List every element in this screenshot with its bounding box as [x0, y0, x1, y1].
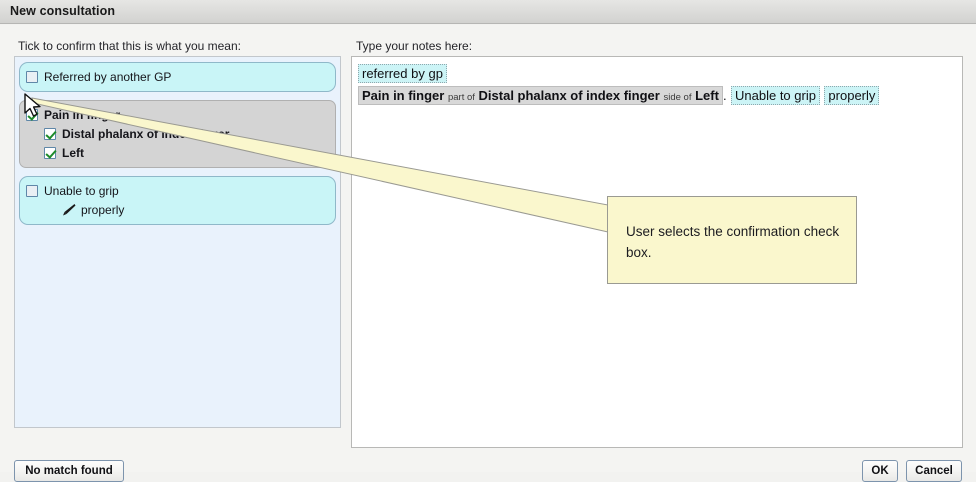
- list-item[interactable]: Unable to grip: [26, 181, 329, 200]
- list-item[interactable]: properly: [26, 200, 329, 219]
- list-item[interactable]: Referred by another GP: [26, 67, 329, 86]
- note-chip-properly[interactable]: properly: [824, 86, 879, 105]
- note-relation-part-of: part of: [448, 92, 475, 103]
- checkbox-checked-icon[interactable]: [44, 128, 56, 140]
- note-concept-distal-phalanx: Distal phalanx of index finger: [479, 88, 660, 103]
- note-line-1: referred by gp: [358, 63, 956, 85]
- confirmation-list-panel[interactable]: Referred by another GPPain in fingerDist…: [14, 56, 341, 428]
- note-concept-pain-in-finger: Pain in finger: [362, 88, 444, 103]
- note-chip-referred-by-gp[interactable]: referred by gp: [358, 64, 447, 83]
- no-match-found-button[interactable]: No match found: [14, 460, 124, 482]
- list-item[interactable]: Pain in finger: [26, 105, 329, 124]
- callout-text: User selects the confirmation check box.: [626, 221, 841, 263]
- note-chip-unable-to-grip[interactable]: Unable to grip: [731, 86, 820, 105]
- pen-icon: [62, 203, 76, 217]
- window-title-bar: New consultation: [0, 0, 976, 24]
- note-separator: .: [723, 88, 727, 103]
- cancel-button[interactable]: Cancel: [906, 460, 962, 482]
- checkbox-checked-icon[interactable]: [44, 147, 56, 159]
- checkbox-unchecked-icon[interactable]: [26, 185, 38, 197]
- right-panel-caption: Type your notes here:: [356, 39, 472, 53]
- list-item-label: properly: [81, 203, 124, 217]
- checkbox-unchecked-icon[interactable]: [26, 71, 38, 83]
- group-pain-in-finger[interactable]: Pain in fingerDistal phalanx of index fi…: [19, 100, 336, 168]
- list-item-label: Pain in finger: [44, 108, 120, 122]
- note-line-2: Pain in finger part of Distal phalanx of…: [358, 85, 956, 109]
- list-item[interactable]: Distal phalanx of index finger: [26, 124, 329, 143]
- left-panel-caption: Tick to confirm that this is what you me…: [18, 39, 241, 53]
- list-item-label: Left: [62, 146, 84, 160]
- callout-box: User selects the confirmation check box.: [607, 196, 857, 284]
- note-relation-side-of: side of: [663, 92, 691, 103]
- group-unable-to-grip[interactable]: Unable to gripproperly: [19, 176, 336, 225]
- list-item-label: Unable to grip: [44, 184, 119, 198]
- list-item-label: Distal phalanx of index finger: [62, 127, 229, 141]
- checkbox-checked-icon[interactable]: [26, 109, 38, 121]
- note-chip-pain-in-finger[interactable]: Pain in finger part of Distal phalanx of…: [358, 86, 723, 105]
- list-item[interactable]: Left: [26, 143, 329, 162]
- window-title: New consultation: [10, 4, 115, 18]
- list-item-label: Referred by another GP: [44, 70, 171, 84]
- group-referred-by-another-gp[interactable]: Referred by another GP: [19, 62, 336, 92]
- note-concept-left: Left: [695, 88, 719, 103]
- ok-button[interactable]: OK: [862, 460, 898, 482]
